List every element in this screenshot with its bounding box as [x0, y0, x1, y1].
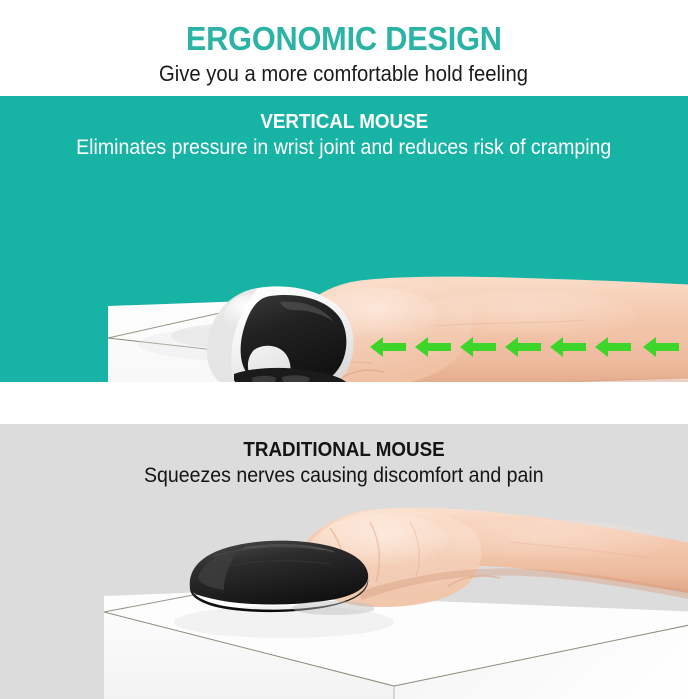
vertical-mouse-subtitle: Eliminates pressure in wrist joint and r… [76, 137, 611, 159]
page-title: ERGONOMIC DESIGN [186, 22, 502, 55]
page-subtitle: Give you a more comfortable hold feeling [159, 62, 528, 85]
traditional-mouse-caption: TRADITIONAL MOUSE Squeezes nerves causin… [0, 424, 688, 487]
flow-arrow-green-6 [593, 334, 633, 360]
header: ERGONOMIC DESIGN Give you a more comfort… [0, 0, 688, 96]
flow-arrow-green-7 [641, 334, 681, 360]
traditional-mouse-subtitle: Squeezes nerves causing discomfort and p… [144, 465, 544, 487]
flow-arrow-green-3 [458, 334, 498, 360]
traditional-mouse-title: TRADITIONAL MOUSE [243, 440, 444, 461]
vertical-mouse-panel: VERTICAL MOUSE Eliminates pressure in wr… [0, 96, 688, 382]
infographic-root: ERGONOMIC DESIGN Give you a more comfort… [0, 0, 688, 699]
vertical-mouse-title: VERTICAL MOUSE [260, 112, 428, 133]
traditional-mouse-panel: TRADITIONAL MOUSE Squeezes nerves causin… [0, 424, 688, 699]
vertical-mouse [196, 282, 372, 382]
panel-divider [0, 382, 688, 424]
flow-arrow-green-1 [368, 334, 408, 360]
flow-arrow-green-4 [503, 334, 543, 360]
vertical-mouse-caption: VERTICAL MOUSE Eliminates pressure in wr… [0, 96, 688, 159]
flow-arrow-green-2 [413, 334, 453, 360]
flow-arrow-green-5 [548, 334, 588, 360]
traditional-mouse [184, 528, 374, 618]
